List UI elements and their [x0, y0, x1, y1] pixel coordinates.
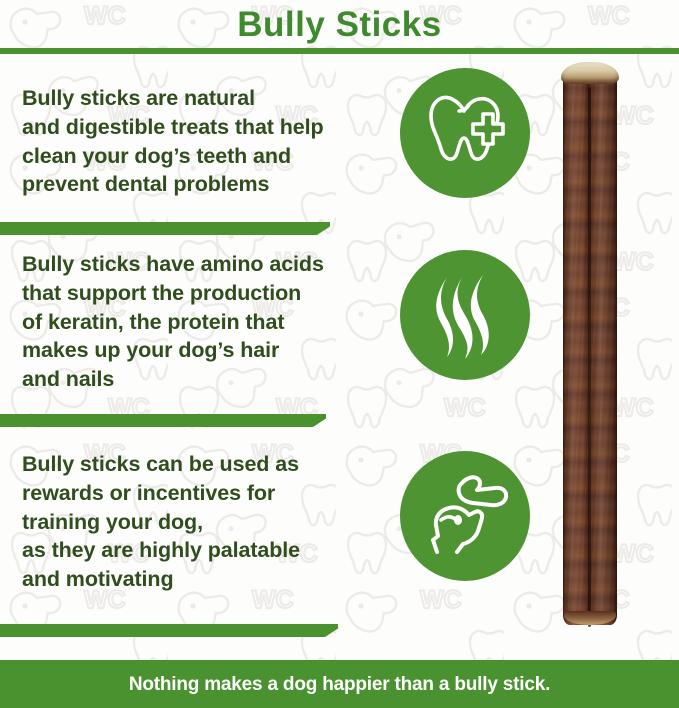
fact-icon-badge-3	[400, 451, 530, 581]
fact-line: and nails	[22, 365, 377, 394]
stick-cut-top-end	[561, 62, 619, 84]
fact-line: Bully sticks have amino acids	[22, 250, 377, 279]
bully-stick-photo	[563, 62, 617, 625]
facts-column: Bully sticks are natural and digestible …	[0, 54, 392, 654]
fact-line: training your dog,	[22, 508, 377, 537]
fact-line: of keratin, the protein that	[22, 308, 377, 337]
fact-line: rewards or incentives for	[22, 479, 377, 508]
footer-tagline: Nothing makes a dog happier than a bully…	[129, 675, 550, 694]
main-content: Bully sticks are natural and digestible …	[0, 54, 679, 654]
fact-text-block-2: Bully sticks have amino acids that suppo…	[22, 250, 377, 394]
fact-line: and digestible treats that help	[22, 113, 377, 142]
stick-body	[563, 71, 617, 625]
fact-line: Bully sticks are natural	[22, 84, 377, 113]
section-divider-2	[0, 414, 326, 427]
fact-line: prevent dental problems	[22, 170, 377, 199]
footer-banner: Nothing makes a dog happier than a bully…	[0, 660, 679, 708]
fact-line: Bully sticks can be used as	[22, 450, 377, 479]
hair-strands-icon	[423, 269, 507, 361]
fact-line: and motivating	[22, 565, 377, 594]
fact-line: as they are highly palatable	[22, 536, 377, 565]
tooth-with-cross-icon	[419, 87, 511, 179]
header-divider-rule	[0, 48, 679, 54]
header: Bully Sticks	[0, 0, 679, 52]
fact-text-block-3: Bully sticks can be used as rewards or i…	[22, 450, 377, 594]
fact-line: clean your dog’s teeth and	[22, 142, 377, 171]
bully-sticks-infographic: WC Bully Sticks Bully sticks are	[0, 0, 679, 708]
fact-line: makes up your dog’s hair	[22, 336, 377, 365]
dog-training-hand-icon	[417, 468, 513, 564]
fact-line: that support the production	[22, 279, 377, 308]
page-title: Bully Sticks	[237, 7, 441, 45]
stick-groove	[588, 87, 591, 627]
fact-icon-badge-1	[400, 68, 530, 198]
fact-text-block-1: Bully sticks are natural and digestible …	[22, 84, 377, 199]
section-divider-1	[0, 222, 330, 235]
fact-icon-badge-2	[400, 250, 530, 380]
section-divider-3	[0, 624, 338, 637]
